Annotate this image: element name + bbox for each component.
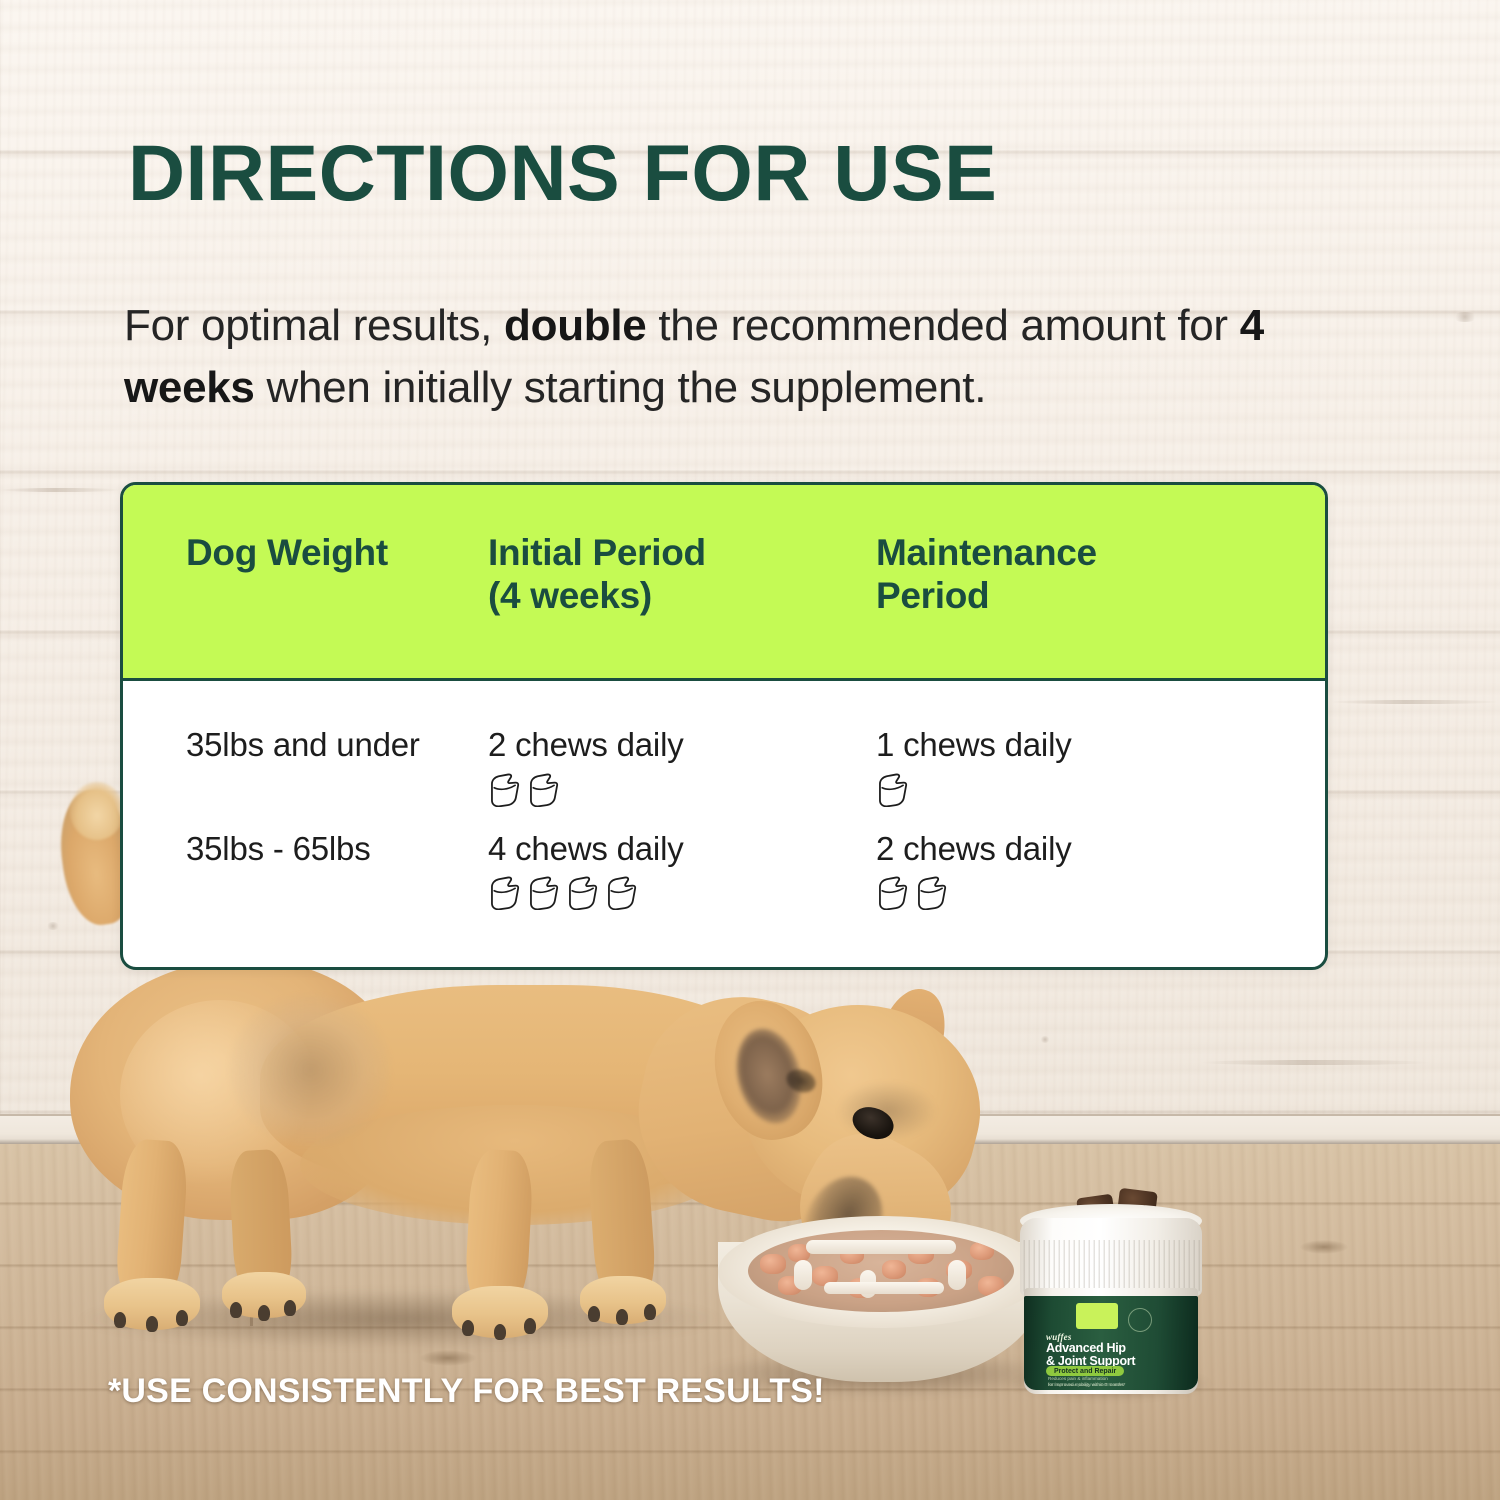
dog-paw — [580, 1276, 666, 1324]
value-maintenance: 1 chews daily — [876, 725, 1316, 765]
chew-icon — [876, 773, 908, 811]
chew-icon — [876, 876, 908, 914]
cell-initial: 4 chews daily — [488, 829, 876, 915]
header-label-dog-weight: Dog Weight — [186, 531, 488, 574]
dog-claw — [284, 1300, 296, 1316]
wall-blemish — [46, 922, 60, 930]
dog-claw — [494, 1324, 506, 1340]
dosage-table-header-row: Dog Weight Initial Period (4 weeks) Main… — [123, 485, 1325, 681]
header-initial-line1: Initial Period — [488, 532, 706, 573]
dog-claw — [230, 1302, 242, 1318]
kibble-piece — [970, 1242, 994, 1260]
chew-icon-group — [488, 876, 876, 914]
jar-label: wuffes Advanced Hip & Joint Support Prot… — [1024, 1296, 1198, 1390]
chew-icon — [488, 773, 520, 811]
label-seal-icon — [1128, 1308, 1152, 1332]
kibble-piece — [760, 1254, 786, 1274]
cell-maintenance: 1 chews daily — [876, 725, 1316, 811]
dog-claw — [258, 1305, 270, 1321]
subhead-bold-double: double — [504, 301, 646, 350]
label-green-badge — [1076, 1303, 1118, 1329]
dog-rear-fur — [230, 995, 390, 1145]
subhead-part-1: For optimal results, — [124, 301, 504, 350]
chew-icon — [527, 876, 559, 914]
chew-icon-group — [488, 773, 876, 811]
floor-knot — [1300, 1240, 1348, 1254]
dosage-table-body: 35lbs and under 2 chews daily 1 chews da… — [123, 681, 1325, 914]
wall-blemish — [1452, 312, 1478, 322]
chew-icon-group — [876, 773, 1316, 811]
header-label-initial-period: Initial Period (4 weeks) — [488, 531, 876, 618]
dog-paw — [222, 1272, 306, 1318]
cell-weight: 35lbs and under — [123, 725, 488, 765]
page-title: DIRECTIONS FOR USE — [128, 133, 997, 212]
table-row: 35lbs and under 2 chews daily 1 chews da… — [123, 725, 1325, 811]
product-net-weight: NET WT 6.34oz (180g) / 60 SOFT CHEWS — [1048, 1382, 1188, 1387]
value-initial: 2 chews daily — [488, 725, 876, 765]
chew-icon — [488, 876, 520, 914]
dog-claw — [176, 1310, 188, 1326]
dog-claw — [644, 1304, 656, 1320]
wall-blemish — [1040, 1036, 1050, 1043]
footer-note: *USE CONSISTENTLY FOR BEST RESULTS! — [108, 1372, 825, 1411]
value-maintenance: 2 chews daily — [876, 829, 1316, 869]
product-title: Advanced Hip & Joint Support — [1046, 1342, 1186, 1368]
dog-claw — [588, 1306, 600, 1322]
kibble-piece — [978, 1276, 1004, 1296]
header-label-maintenance-period: Maintenance Period — [876, 531, 1316, 618]
dog-claw — [462, 1320, 474, 1336]
slow-feeder-ridge — [794, 1260, 812, 1290]
slow-feeder-ridge — [948, 1260, 966, 1290]
value-initial: 4 chews daily — [488, 829, 876, 869]
dog-claw — [146, 1316, 158, 1332]
dog-paw — [104, 1278, 200, 1330]
dog-paw — [452, 1286, 548, 1338]
cell-initial: 2 chews daily — [488, 725, 876, 811]
jar-lid-ridges — [1020, 1240, 1202, 1292]
chew-icon — [566, 876, 598, 914]
product-tagline: Protect and Repair — [1046, 1366, 1124, 1376]
slow-feeder-ridge — [824, 1282, 944, 1294]
chew-icon — [605, 876, 637, 914]
infographic-canvas: wuffes Advanced Hip & Joint Support Prot… — [0, 0, 1500, 1500]
header-maintenance-line2: Period — [876, 575, 989, 616]
chew-icon — [915, 876, 947, 914]
dog-claw — [616, 1309, 628, 1325]
value-weight: 35lbs and under — [186, 725, 488, 765]
value-weight: 35lbs - 65lbs — [186, 829, 488, 869]
header-maintenance-line1: Maintenance — [876, 532, 1097, 573]
header-initial-line2: (4 weeks) — [488, 575, 652, 616]
subhead-part-2: the recommended amount for — [646, 301, 1239, 350]
wall-scuff — [1200, 1060, 1430, 1065]
dog-bowl-interior — [748, 1230, 1014, 1312]
chew-icon — [527, 773, 559, 811]
header-cell-dog-weight: Dog Weight — [123, 531, 488, 574]
cell-weight: 35lbs - 65lbs — [123, 829, 488, 869]
table-row: 35lbs - 65lbs 4 chews daily 2 chews dail… — [123, 829, 1325, 915]
dosage-table: Dog Weight Initial Period (4 weeks) Main… — [120, 482, 1328, 970]
dog-tail-tip — [70, 782, 124, 840]
instructions-paragraph: For optimal results, double the recommen… — [124, 295, 1384, 420]
header-cell-initial-period: Initial Period (4 weeks) — [488, 531, 876, 618]
dog-claw — [524, 1318, 536, 1334]
dog-claw — [114, 1312, 126, 1328]
slow-feeder-ridge — [806, 1240, 956, 1254]
chew-icon-group — [876, 876, 1316, 914]
floor-knot — [420, 1350, 476, 1366]
kibble-piece — [882, 1260, 906, 1279]
header-cell-maintenance-period: Maintenance Period — [876, 531, 1316, 618]
wall-scuff — [0, 488, 120, 492]
wall-scuff — [1330, 700, 1500, 704]
cell-maintenance: 2 chews daily — [876, 829, 1316, 915]
subhead-part-3: when initially starting the supplement. — [255, 363, 987, 412]
